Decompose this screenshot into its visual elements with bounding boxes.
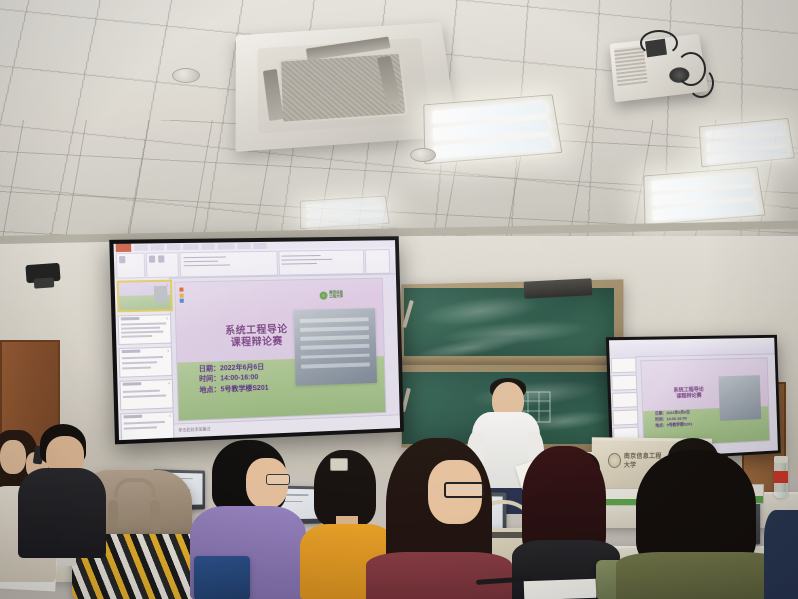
slide-thumbnail-number: 4 (168, 381, 170, 385)
student-olive-body (616, 552, 786, 599)
projector-vent (614, 45, 648, 86)
main-projection-screen: 1 2 3 4 (109, 236, 404, 444)
slide-thumbnail-number: 2 (166, 316, 168, 320)
smoke-detector-2 (410, 148, 436, 162)
slide-thumbnail-1[interactable]: 1 (117, 280, 173, 313)
ceiling-light-1 (423, 94, 562, 164)
paper-sheet-desk (524, 579, 597, 599)
powerpoint-app-icon (116, 244, 132, 252)
slide-thumbnail-4[interactable]: 4 (119, 379, 173, 410)
eyeglasses-icon (266, 474, 290, 485)
classroom-scene: 1 2 3 4 (0, 0, 798, 599)
ribbon-tab-review[interactable] (237, 243, 250, 249)
hair-clip (330, 458, 348, 471)
eyeglasses-icon (444, 482, 484, 498)
slide-thumbnail-number: 1 (166, 283, 168, 287)
wall-speaker (524, 278, 593, 299)
chair-back-1 (194, 556, 250, 599)
ribbon-tab-transitions[interactable] (183, 244, 198, 250)
slide-title: 系统工程导论 课程辩论赛 (202, 323, 311, 351)
university-logo-mark (319, 291, 327, 299)
paste-icon[interactable] (119, 256, 125, 263)
ribbon-tab-slideshow[interactable] (217, 243, 234, 249)
ribbon-tab-animations[interactable] (201, 244, 214, 250)
chalkboard-rail (401, 356, 619, 365)
active-slide[interactable]: 南京信息 工程大学 系统工程导论 课程辩论赛 日期：2022年6月6日 时间：1… (174, 278, 386, 422)
ceiling-light-2 (643, 167, 765, 226)
ceiling-light-3 (300, 196, 390, 230)
student-maroon-body (366, 552, 512, 599)
student-far-right-body (764, 510, 798, 599)
powerpoint-ribbon[interactable] (114, 240, 396, 280)
slide-thumbnail-number: 5 (169, 414, 171, 418)
projector-cable-3 (688, 68, 714, 98)
university-logo: 南京信息 工程大学 (319, 287, 372, 303)
slide-thumbnail-number: 3 (167, 349, 169, 353)
student-left-body (18, 468, 106, 558)
slide-thumbnail-3[interactable]: 3 (119, 347, 173, 378)
slide-thumbnail-2[interactable]: 2 (118, 314, 172, 345)
ribbon-tab-insert[interactable] (151, 244, 164, 250)
ribbon-tab-home[interactable] (134, 244, 148, 250)
slide-details: 日期：2022年6月6日 时间：14:00-16:00 地点：5号教学楼S201 (199, 361, 325, 397)
ribbon-group-drawing[interactable] (365, 249, 390, 274)
layout-icon[interactable] (158, 255, 164, 262)
lectern-seal-icon (608, 453, 621, 468)
slide-thumbnail-panel[interactable]: 1 2 3 4 (114, 278, 174, 440)
notes-placeholder[interactable]: 单击此处添加备注 (178, 426, 210, 433)
water-bottle-3 (774, 456, 788, 498)
projector-cable-1 (640, 30, 678, 56)
slide-decor-dots (180, 288, 195, 305)
powerpoint-window: 1 2 3 4 (114, 240, 401, 440)
new-slide-icon[interactable] (149, 256, 155, 263)
smoke-detector-1 (172, 68, 200, 83)
desk-box-1 (604, 488, 640, 506)
ribbon-tab-design[interactable] (167, 244, 180, 250)
slide-thumbnail-5[interactable]: 5 (120, 411, 174, 440)
logo-line-2: 工程大学 (329, 295, 343, 299)
ribbon-tab-view[interactable] (253, 243, 266, 249)
backpack-handle (114, 478, 156, 498)
wall-camera-left-base (34, 277, 55, 288)
student-far-left-face (0, 440, 26, 474)
